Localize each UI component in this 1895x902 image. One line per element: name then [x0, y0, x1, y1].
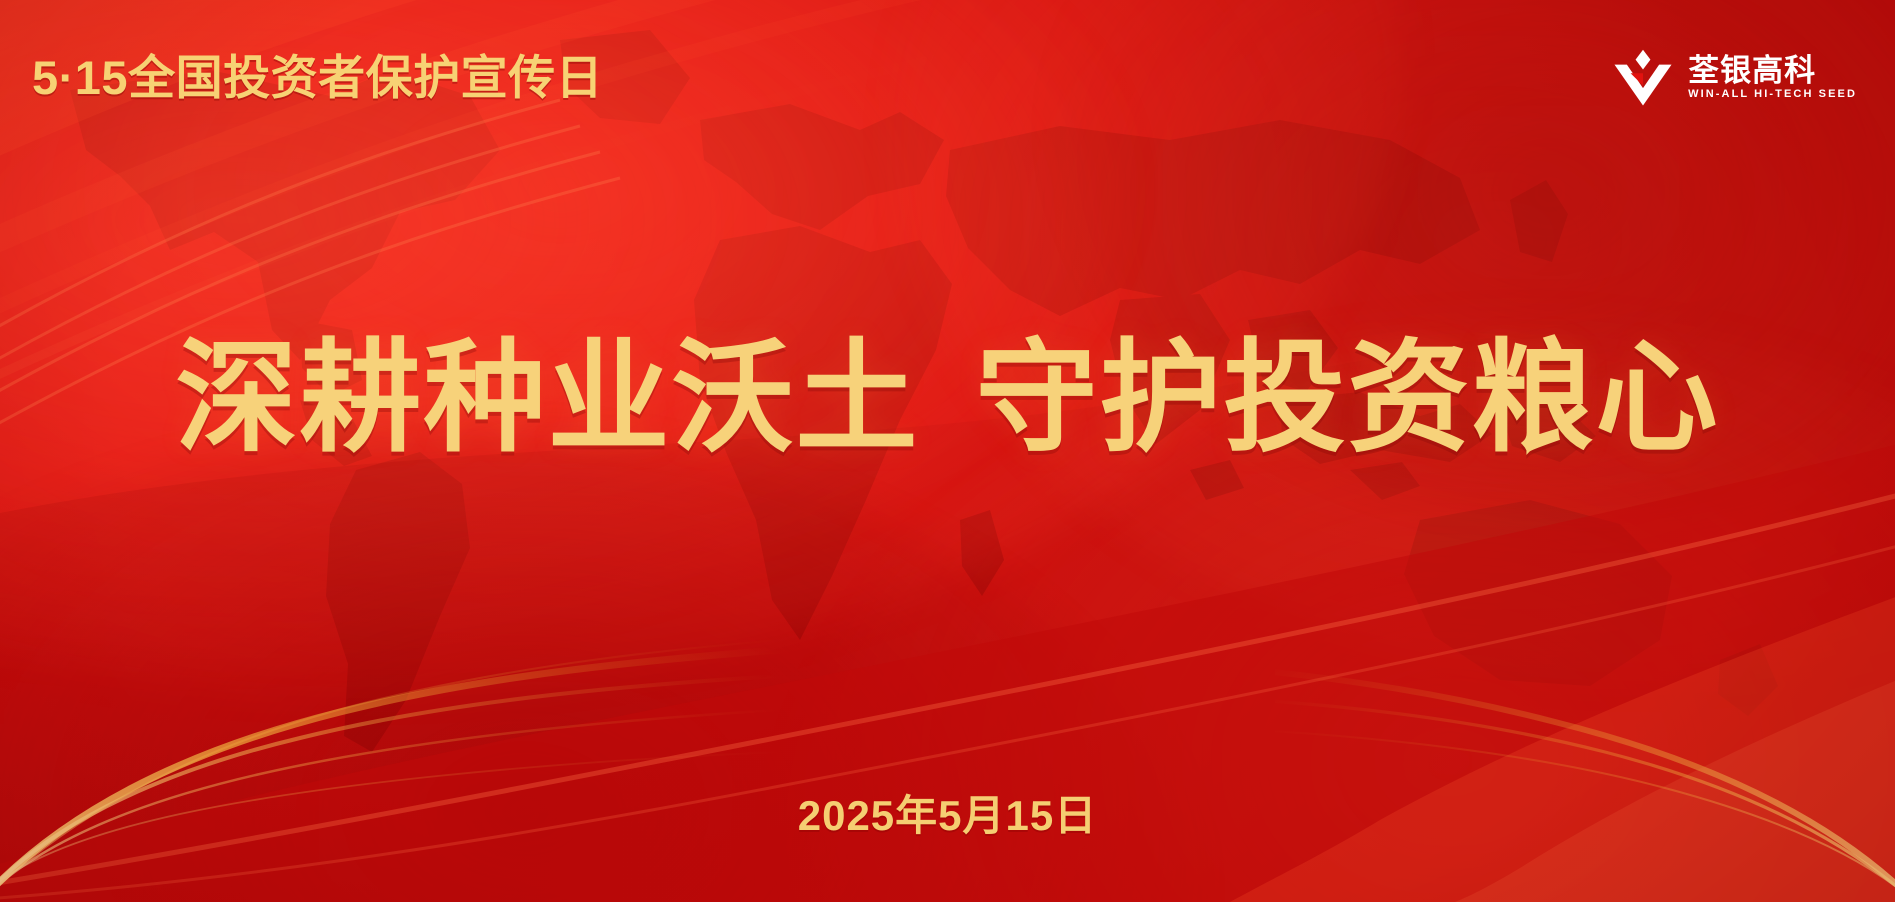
main-headline: 深耕种业沃土守护投资粮心	[0, 336, 1895, 460]
poster-banner: 5·15全国投资者保护宣传日 荃银高科 WIN-ALL HI-TECH SEED…	[0, 0, 1895, 902]
headline-phrase-2: 守护投资粮心	[976, 330, 1720, 466]
chevron-diamond-logo-icon	[1612, 46, 1674, 108]
gold-swoosh-right	[1275, 572, 1895, 902]
gold-swoosh-left	[0, 602, 780, 902]
brand-logo: 荃银高科 WIN-ALL HI-TECH SEED	[1612, 46, 1857, 108]
headline-phrase-1: 深耕种业沃土	[176, 330, 920, 466]
brand-name-cn: 荃银高科	[1688, 55, 1857, 86]
campaign-eyebrow-title: 5·15全国投资者保护宣传日	[32, 54, 603, 101]
event-date: 2025年5月15日	[0, 795, 1895, 837]
brand-name-en: WIN-ALL HI-TECH SEED	[1688, 89, 1857, 100]
